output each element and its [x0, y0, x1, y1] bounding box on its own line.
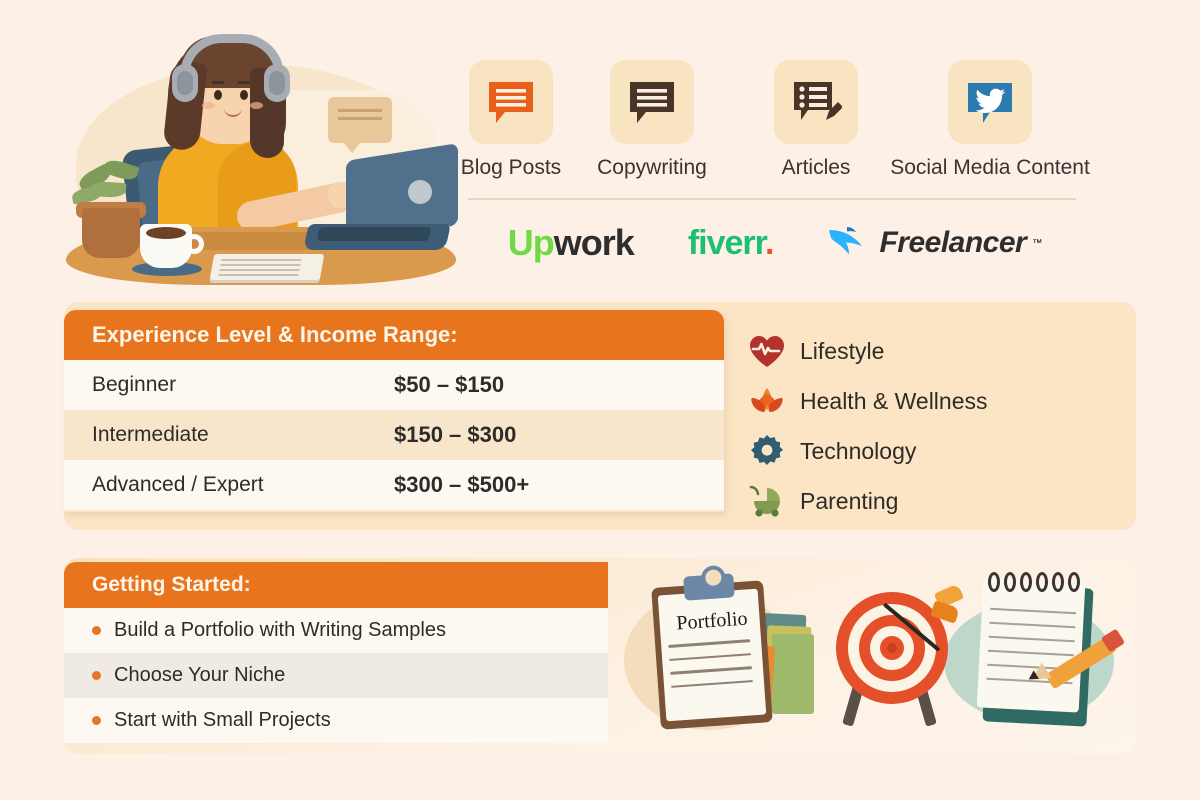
mug-handle [184, 234, 204, 254]
social-media-tile [948, 60, 1032, 144]
niche-item-lifestyle[interactable]: Lifestyle [748, 326, 1108, 376]
bullet-icon [92, 716, 101, 725]
copywriting-tile [610, 60, 694, 144]
income-range: $300 – $500+ [394, 472, 529, 498]
freelancer-logo-text: Freelancer [879, 226, 1026, 260]
eye-left [214, 90, 222, 100]
stroller-icon [748, 484, 786, 518]
plant-pot [82, 208, 140, 258]
speech-bubble-lines-icon [485, 76, 537, 128]
content-type-copywriting[interactable]: Copywriting [567, 60, 737, 180]
content-type-articles[interactable]: Articles [737, 60, 895, 180]
getting-started-title: Getting Started: [64, 562, 608, 608]
headphone-earcup-right [264, 64, 290, 102]
section-divider [468, 198, 1076, 200]
notepad-spiral [1020, 572, 1032, 592]
freelancer-bird-icon [827, 225, 873, 261]
eyebrow-left [212, 81, 224, 84]
upwork-logo[interactable]: Upwork [508, 222, 634, 264]
niche-item-health-wellness[interactable]: Health & Wellness [748, 376, 1108, 426]
eye-right [240, 90, 248, 100]
laptop-keyboard [317, 227, 432, 241]
bullet-icon [92, 626, 101, 635]
content-type-social-media[interactable]: Social Media Content [895, 60, 1085, 180]
lotus-flower-icon [748, 384, 786, 418]
upwork-logo-up: Up [508, 222, 554, 263]
list-item[interactable]: Start with Small Projects [64, 698, 608, 743]
twitter-bird-bubble-icon [964, 76, 1016, 128]
content-type-label: Blog Posts [461, 156, 561, 180]
step-label: Choose Your Niche [114, 664, 285, 687]
hero-illustration [28, 12, 458, 297]
step-label: Build a Portfolio with Writing Samples [114, 619, 446, 642]
getting-started-illustration: Portfolio [614, 562, 1136, 754]
notepad-spiral [1036, 572, 1048, 592]
content-type-label: Copywriting [597, 156, 707, 180]
fiverr-logo-text: fiverr [688, 224, 765, 262]
niche-label: Lifestyle [800, 338, 884, 365]
income-level: Beginner [64, 373, 394, 397]
upwork-logo-work: work [554, 222, 634, 263]
table-row: Beginner $50 – $150 [64, 360, 724, 410]
articles-tile [774, 60, 858, 144]
list-item[interactable]: Choose Your Niche [64, 653, 608, 698]
list-item[interactable]: Build a Portfolio with Writing Samples [64, 608, 608, 653]
income-table: Experience Level & Income Range: Beginne… [64, 310, 724, 512]
speech-bubble-lines-icon [626, 76, 678, 128]
notebook [210, 254, 325, 280]
step-label: Start with Small Projects [114, 709, 331, 732]
income-table-title: Experience Level & Income Range: [64, 310, 724, 360]
income-range: $150 – $300 [394, 422, 516, 448]
cheek-right [250, 102, 263, 109]
dartboard-bullseye [887, 643, 897, 653]
fiverr-logo-dot: . [765, 224, 773, 262]
blog-posts-tile [469, 60, 553, 144]
content-type-blog-posts[interactable]: Blog Posts [455, 60, 567, 180]
income-level: Advanced / Expert [64, 473, 394, 497]
coffee-surface [146, 227, 186, 239]
freelancer-trademark: ™ [1032, 238, 1042, 249]
niche-label: Health & Wellness [800, 388, 988, 415]
clipboard-clamp [683, 573, 735, 600]
clipboard-lines [668, 639, 754, 699]
heart-pulse-icon [748, 334, 786, 368]
headphone-earcup-left [172, 64, 198, 102]
niche-item-technology[interactable]: Technology [748, 426, 1108, 476]
gear-icon [748, 434, 786, 468]
income-level: Intermediate [64, 423, 394, 447]
content-type-label: Articles [782, 156, 851, 180]
eyebrow-right [238, 81, 250, 84]
fiverr-logo[interactable]: fiverr. [688, 224, 774, 263]
bullet-icon [92, 671, 101, 680]
dartboard-arrow-icon [832, 590, 952, 740]
niche-label: Parenting [800, 488, 898, 515]
speech-bubble-icon [328, 97, 392, 143]
table-row: Intermediate $150 – $300 [64, 410, 724, 460]
platform-logos-row: Upwork fiverr. Freelancer ™ [470, 212, 1080, 274]
notepad-spiral [988, 572, 1000, 592]
table-row: Advanced / Expert $300 – $500+ [64, 460, 724, 510]
getting-started-card: Getting Started: Build a Portfolio with … [64, 562, 608, 748]
notepad-spiral [1004, 572, 1016, 592]
income-range: $50 – $150 [394, 372, 504, 398]
notepad-spiral [1068, 572, 1080, 592]
niche-label: Technology [800, 438, 916, 465]
niche-item-parenting[interactable]: Parenting [748, 476, 1108, 526]
list-bubble-pencil-icon [790, 76, 842, 128]
laptop-logo [408, 180, 432, 204]
notepad-spiral [1052, 572, 1064, 592]
infographic-page: Blog Posts Copywriting [0, 0, 1200, 800]
niches-list: Lifestyle Health & Wellness Technology [748, 326, 1108, 526]
folder-green [772, 634, 814, 714]
content-types-row: Blog Posts Copywriting [455, 60, 1085, 180]
content-type-label: Social Media Content [890, 156, 1090, 180]
cheek-left [202, 102, 215, 109]
freelancer-logo[interactable]: Freelancer ™ [827, 225, 1042, 261]
